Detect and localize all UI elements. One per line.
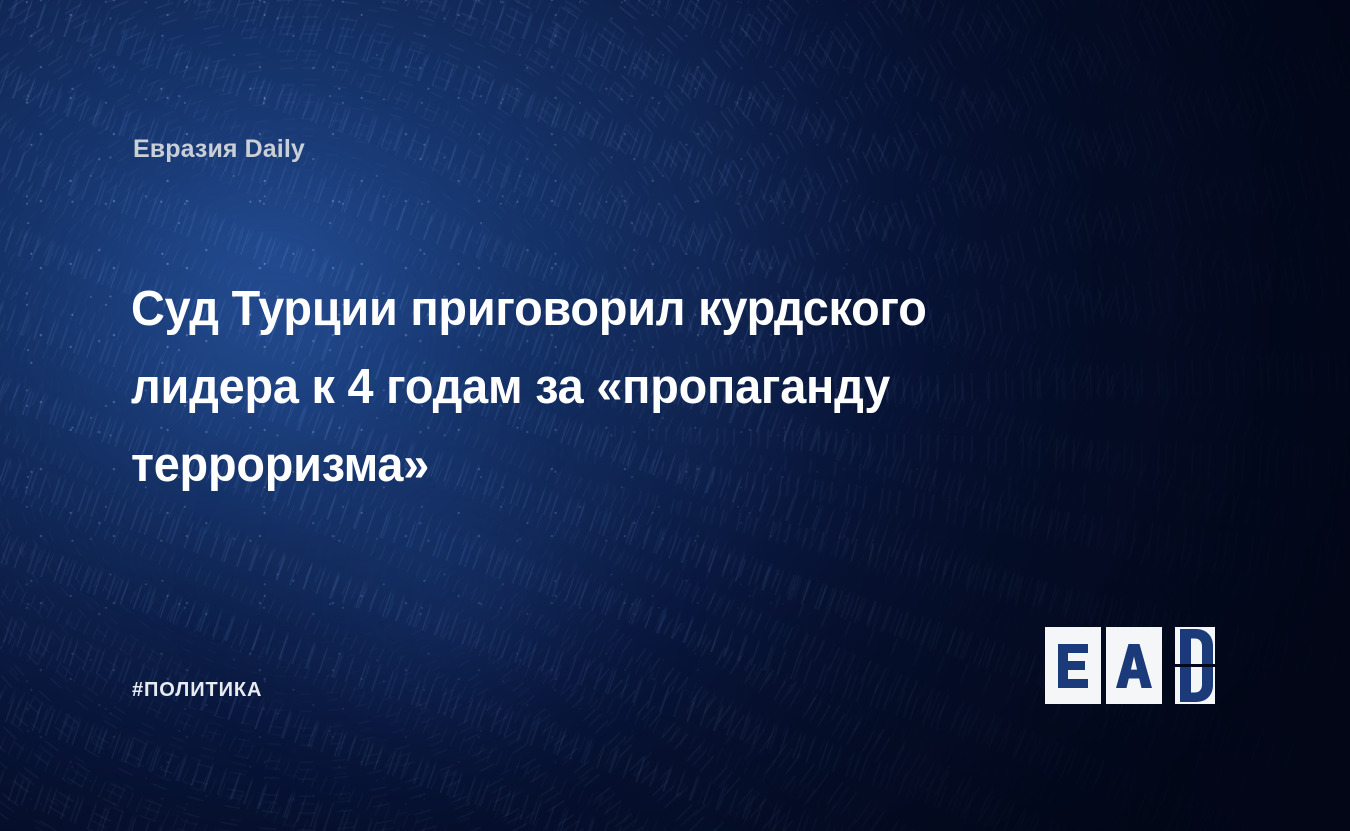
letter-a-icon xyxy=(1114,642,1154,690)
letter-e-icon xyxy=(1056,642,1090,690)
page-title: Суд Турции приговорил курдского лидера к… xyxy=(131,270,1024,504)
news-card: Евразия Daily Суд Турции приговорил курд… xyxy=(0,0,1350,831)
brand-name: Евразия Daily xyxy=(133,135,305,164)
logo-tile-a xyxy=(1106,627,1162,704)
logo-tile-d xyxy=(1167,627,1223,704)
letter-d-lower-half xyxy=(1175,667,1215,704)
card-content: Евразия Daily Суд Турции приговорил курд… xyxy=(0,0,1350,831)
category-hashtag[interactable]: #ПОЛИТИКА xyxy=(132,679,262,702)
logo-tile-e xyxy=(1045,627,1101,704)
eadaily-logo[interactable] xyxy=(1045,627,1223,704)
letter-d-upper-half xyxy=(1175,627,1215,664)
